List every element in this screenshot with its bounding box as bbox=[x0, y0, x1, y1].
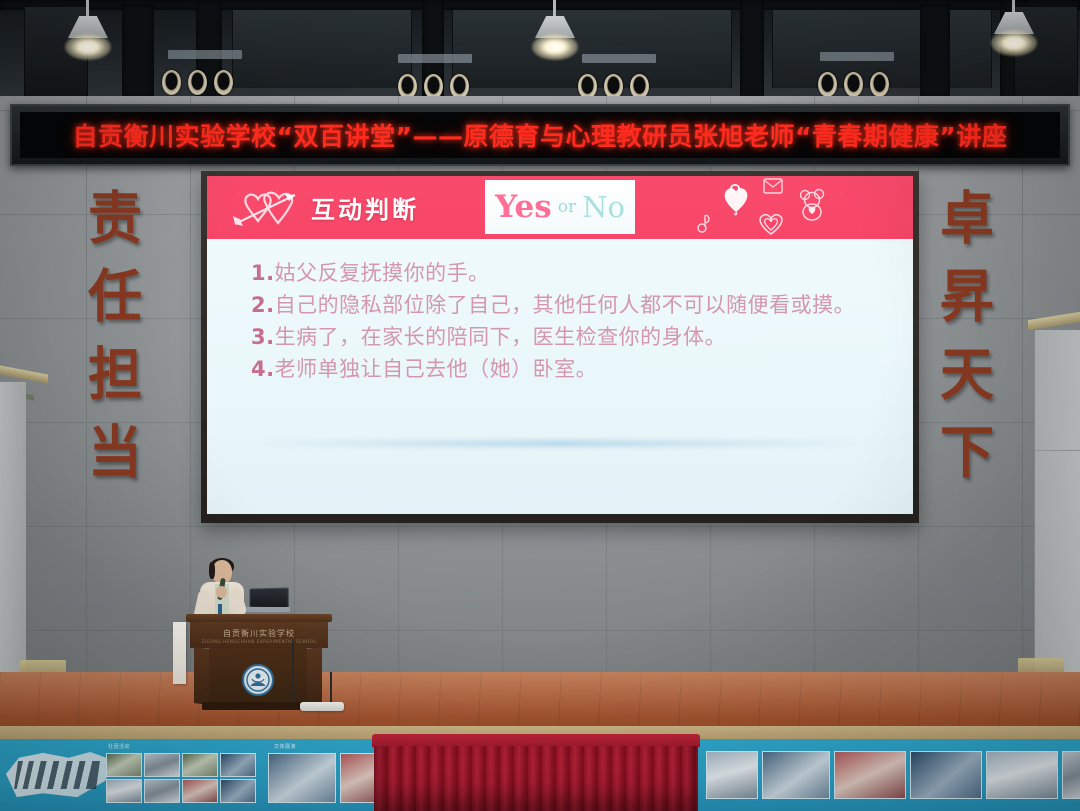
speaker-driver-cluster bbox=[162, 70, 233, 95]
calligraphy-char: 下 bbox=[940, 412, 994, 494]
presenter-hand bbox=[216, 586, 227, 598]
podium-left-side bbox=[194, 647, 210, 705]
cable bbox=[330, 672, 352, 706]
speaker-driver-icon bbox=[188, 70, 207, 95]
slide-item: 4.老师单独让自己去他（她）卧室。 bbox=[251, 353, 887, 385]
calligraphy-char: 任 bbox=[88, 256, 142, 338]
ceiling bbox=[0, 0, 1080, 104]
no-text: No bbox=[582, 193, 625, 222]
board-photo bbox=[834, 751, 906, 799]
board-photo bbox=[144, 779, 180, 803]
calligraphy-char: 天 bbox=[940, 334, 994, 416]
standing-banner bbox=[173, 622, 186, 684]
podium-school-name: 自贡衡川实验学校 bbox=[190, 628, 328, 639]
board-photo bbox=[762, 751, 830, 799]
ceiling-beam bbox=[0, 0, 1080, 10]
speaker-label bbox=[168, 50, 242, 59]
music-note-icon bbox=[696, 212, 714, 239]
left-side-wall bbox=[0, 382, 26, 698]
slide-item-text: 老师单独让自己去他（她）卧室。 bbox=[275, 357, 598, 381]
wall-calligraphy-right: 卓 昇 天 下 bbox=[930, 180, 1004, 492]
power-strip bbox=[300, 702, 344, 711]
ceiling-panel bbox=[232, 10, 412, 88]
display-board-right bbox=[696, 739, 1080, 811]
slide-item-text: 姑父反复抚摸你的手。 bbox=[275, 261, 490, 285]
lecture-hall-photo: 自贡衡川实验学校“双百讲堂”——原德育与心理教研员张旭老师“青春期健康”讲座 责… bbox=[0, 0, 1080, 811]
led-banner-text: 自贡衡川实验学校“双百讲堂”——原德育与心理教研员张旭老师“青春期健康”讲座 bbox=[73, 117, 1008, 153]
heart-balloon-icon bbox=[719, 182, 753, 221]
board-photo bbox=[986, 751, 1058, 799]
speaker-label bbox=[398, 54, 472, 63]
slide-item: 3.生病了，在家长的陪同下，医生检查你的身体。 bbox=[251, 321, 887, 353]
speaker-driver-icon bbox=[818, 72, 837, 97]
board-section-title: 社团活动 bbox=[108, 743, 130, 750]
calligraphy-char: 昇 bbox=[940, 256, 994, 338]
podium-top bbox=[186, 614, 332, 622]
slide-item-number: 4. bbox=[251, 357, 275, 381]
speaker-rack bbox=[122, 4, 154, 100]
slide-item-number: 1. bbox=[251, 261, 275, 285]
board-photo bbox=[220, 753, 256, 777]
ceiling-beam bbox=[740, 0, 764, 104]
table-skirt-pleats bbox=[374, 746, 698, 811]
school-crest-icon bbox=[242, 664, 274, 696]
calligraphy-char: 当 bbox=[88, 412, 142, 494]
presenter-hair bbox=[209, 562, 215, 579]
board-photo bbox=[106, 779, 142, 803]
board-photo bbox=[1062, 751, 1080, 799]
slide-title: 互动判断 bbox=[311, 190, 419, 225]
slide-item: 2.自己的隐私部位除了自己，其他任何人都不可以随便看或摸。 bbox=[251, 289, 887, 321]
calligraphy-char: 责 bbox=[88, 178, 142, 260]
pendant-light-rod bbox=[86, 0, 89, 18]
speaker-driver-icon bbox=[162, 70, 181, 95]
speaker-label bbox=[582, 54, 656, 63]
led-banner-frame: 自贡衡川实验学校“双百讲堂”——原德育与心理教研员张旭老师“青春期健康”讲座 bbox=[10, 104, 1070, 166]
board-photo bbox=[910, 751, 982, 799]
board-section-title: 文体展演 bbox=[274, 743, 296, 750]
teddy-bear-icon bbox=[797, 188, 829, 227]
right-side-wall bbox=[1034, 330, 1080, 700]
slide-item: 1.姑父反复抚摸你的手。 bbox=[251, 257, 887, 289]
yes-text: Yes bbox=[495, 192, 552, 223]
board-photo bbox=[268, 753, 336, 803]
speaker-rack bbox=[920, 4, 950, 100]
table-skirt bbox=[372, 734, 700, 811]
pendant-light-rod bbox=[553, 0, 556, 18]
wall-calligraphy-left: 责 任 担 当 bbox=[78, 180, 152, 492]
slide-item-text: 生病了，在家长的陪同下，医生检查你的身体。 bbox=[275, 325, 727, 349]
pendant-light-glow bbox=[991, 30, 1037, 56]
pendant-light-rod bbox=[1012, 0, 1015, 14]
yes-or-no-label: Yes or No bbox=[485, 180, 635, 234]
board-photo bbox=[340, 753, 376, 803]
projection-screen-bezel: 互动判断 Yes or No bbox=[201, 171, 919, 523]
podium-base bbox=[202, 702, 314, 710]
envelope-icon bbox=[763, 178, 783, 199]
board-photo bbox=[106, 753, 142, 777]
board-photo bbox=[182, 779, 218, 803]
projection-screen: 互动判断 Yes or No bbox=[207, 176, 913, 514]
slide-body: 1.姑父反复抚摸你的手。 2.自己的隐私部位除了自己，其他任何人都不可以随便看或… bbox=[207, 239, 913, 514]
slide-item-text: 自己的隐私部位除了自己，其他任何人都不可以随便看或摸。 bbox=[275, 293, 856, 317]
board-photo bbox=[182, 753, 218, 777]
speaker-label bbox=[820, 52, 894, 61]
slide-item-number: 2. bbox=[251, 293, 275, 317]
speaker-driver-icon bbox=[214, 70, 233, 95]
heart-with-arrow-icon bbox=[227, 184, 305, 235]
or-text: or bbox=[558, 199, 576, 216]
calligraphy-char: 卓 bbox=[940, 178, 994, 260]
cable bbox=[292, 640, 322, 700]
board-photo bbox=[144, 753, 180, 777]
pendant-light-glow bbox=[65, 34, 111, 60]
heart-pattern-icon bbox=[756, 212, 786, 241]
board-photo bbox=[706, 751, 758, 799]
slide-item-number: 3. bbox=[251, 325, 275, 349]
display-board-left: 社团活动 文体展演 bbox=[0, 739, 376, 811]
laptop-screen bbox=[249, 587, 289, 608]
speaker-driver-cluster bbox=[818, 72, 889, 97]
speaker-driver-icon bbox=[844, 72, 863, 97]
calligraphy-char: 担 bbox=[88, 334, 142, 416]
laptop-base bbox=[246, 607, 290, 612]
speaker-driver-icon bbox=[870, 72, 889, 97]
board-photo bbox=[220, 779, 256, 803]
graffiti-lettering bbox=[14, 761, 100, 789]
slide-header: 互动判断 Yes or No bbox=[207, 176, 913, 239]
led-banner-screen: 自贡衡川实验学校“双百讲堂”——原德育与心理教研员张旭老师“青春期健康”讲座 bbox=[20, 112, 1060, 158]
pendant-light-glow bbox=[532, 34, 578, 60]
screen-glare bbox=[249, 440, 870, 447]
laptop bbox=[246, 588, 290, 614]
